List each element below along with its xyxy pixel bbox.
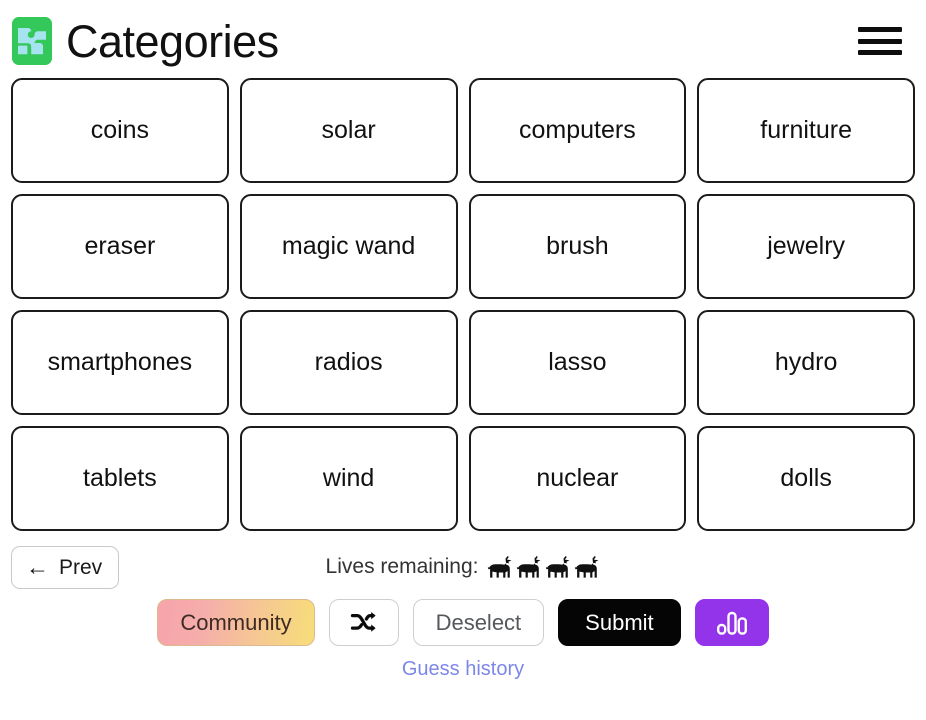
hamburger-bar — [858, 27, 902, 32]
category-tile[interactable]: hydro — [697, 310, 915, 415]
community-button[interactable]: Community — [157, 599, 314, 646]
tile-label: nuclear — [536, 465, 618, 493]
category-tile[interactable]: eraser — [11, 194, 229, 299]
hamburger-bar — [858, 39, 902, 44]
prev-button[interactable]: ← Prev — [11, 546, 119, 589]
category-tile[interactable]: furniture — [697, 78, 915, 183]
goat-icon — [574, 555, 600, 579]
guess-history-link[interactable]: Guess history — [402, 658, 524, 681]
tile-label: lasso — [548, 349, 606, 377]
hamburger-menu-icon[interactable] — [858, 24, 902, 58]
category-tile[interactable]: computers — [469, 78, 687, 183]
status-row: ← Prev Lives remaining: — [0, 543, 926, 591]
brand: Categories — [12, 17, 279, 65]
action-button-row: Community Deselect Submit — [0, 599, 926, 646]
bar-chart-icon — [715, 609, 749, 637]
tile-label: tablets — [83, 465, 157, 493]
tile-label: brush — [546, 233, 609, 261]
tile-label: smartphones — [48, 349, 193, 377]
category-tile[interactable]: nuclear — [469, 426, 687, 531]
goat-icon — [545, 555, 571, 579]
tile-label: radios — [315, 349, 383, 377]
tile-label: coins — [91, 117, 149, 145]
footer: Guess history — [0, 658, 926, 681]
category-tile[interactable]: wind — [240, 426, 458, 531]
category-tile[interactable]: tablets — [11, 426, 229, 531]
lives-icon-list — [487, 555, 600, 579]
tile-label: dolls — [780, 465, 831, 493]
category-tile[interactable]: radios — [240, 310, 458, 415]
deselect-button-label: Deselect — [436, 612, 522, 634]
hamburger-bar — [858, 50, 902, 55]
category-tile[interactable]: jewelry — [697, 194, 915, 299]
puzzle-piece-icon — [12, 17, 52, 65]
category-tile[interactable]: solar — [240, 78, 458, 183]
arrow-left-icon: ← — [26, 556, 49, 579]
lives-remaining-label: Lives remaining: — [326, 555, 479, 579]
category-tile[interactable]: magic wand — [240, 194, 458, 299]
tile-label: eraser — [84, 233, 155, 261]
tile-label: hydro — [775, 349, 838, 377]
tile-label: wind — [323, 465, 374, 493]
prev-button-label: Prev — [59, 557, 102, 578]
deselect-button[interactable]: Deselect — [413, 599, 545, 646]
submit-button-label: Submit — [585, 612, 653, 634]
tile-label: magic wand — [282, 233, 415, 261]
shuffle-button[interactable] — [329, 599, 399, 646]
category-tile[interactable]: brush — [469, 194, 687, 299]
category-tile-grid: coins solar computers furniture eraser m… — [0, 78, 926, 531]
tile-label: computers — [519, 117, 636, 145]
tile-label: furniture — [760, 117, 852, 145]
submit-button[interactable]: Submit — [558, 599, 680, 646]
shuffle-icon — [350, 610, 378, 636]
app-header: Categories — [0, 0, 926, 74]
tile-label: jewelry — [767, 233, 845, 261]
category-tile[interactable]: dolls — [697, 426, 915, 531]
goat-icon — [487, 555, 513, 579]
tile-label: solar — [322, 117, 376, 145]
page-title: Categories — [66, 19, 279, 64]
category-tile[interactable]: lasso — [469, 310, 687, 415]
category-tile[interactable]: coins — [11, 78, 229, 183]
community-button-label: Community — [180, 612, 291, 634]
lives-remaining: Lives remaining: — [0, 555, 926, 579]
goat-icon — [516, 555, 542, 579]
stats-button[interactable] — [695, 599, 769, 646]
category-tile[interactable]: smartphones — [11, 310, 229, 415]
